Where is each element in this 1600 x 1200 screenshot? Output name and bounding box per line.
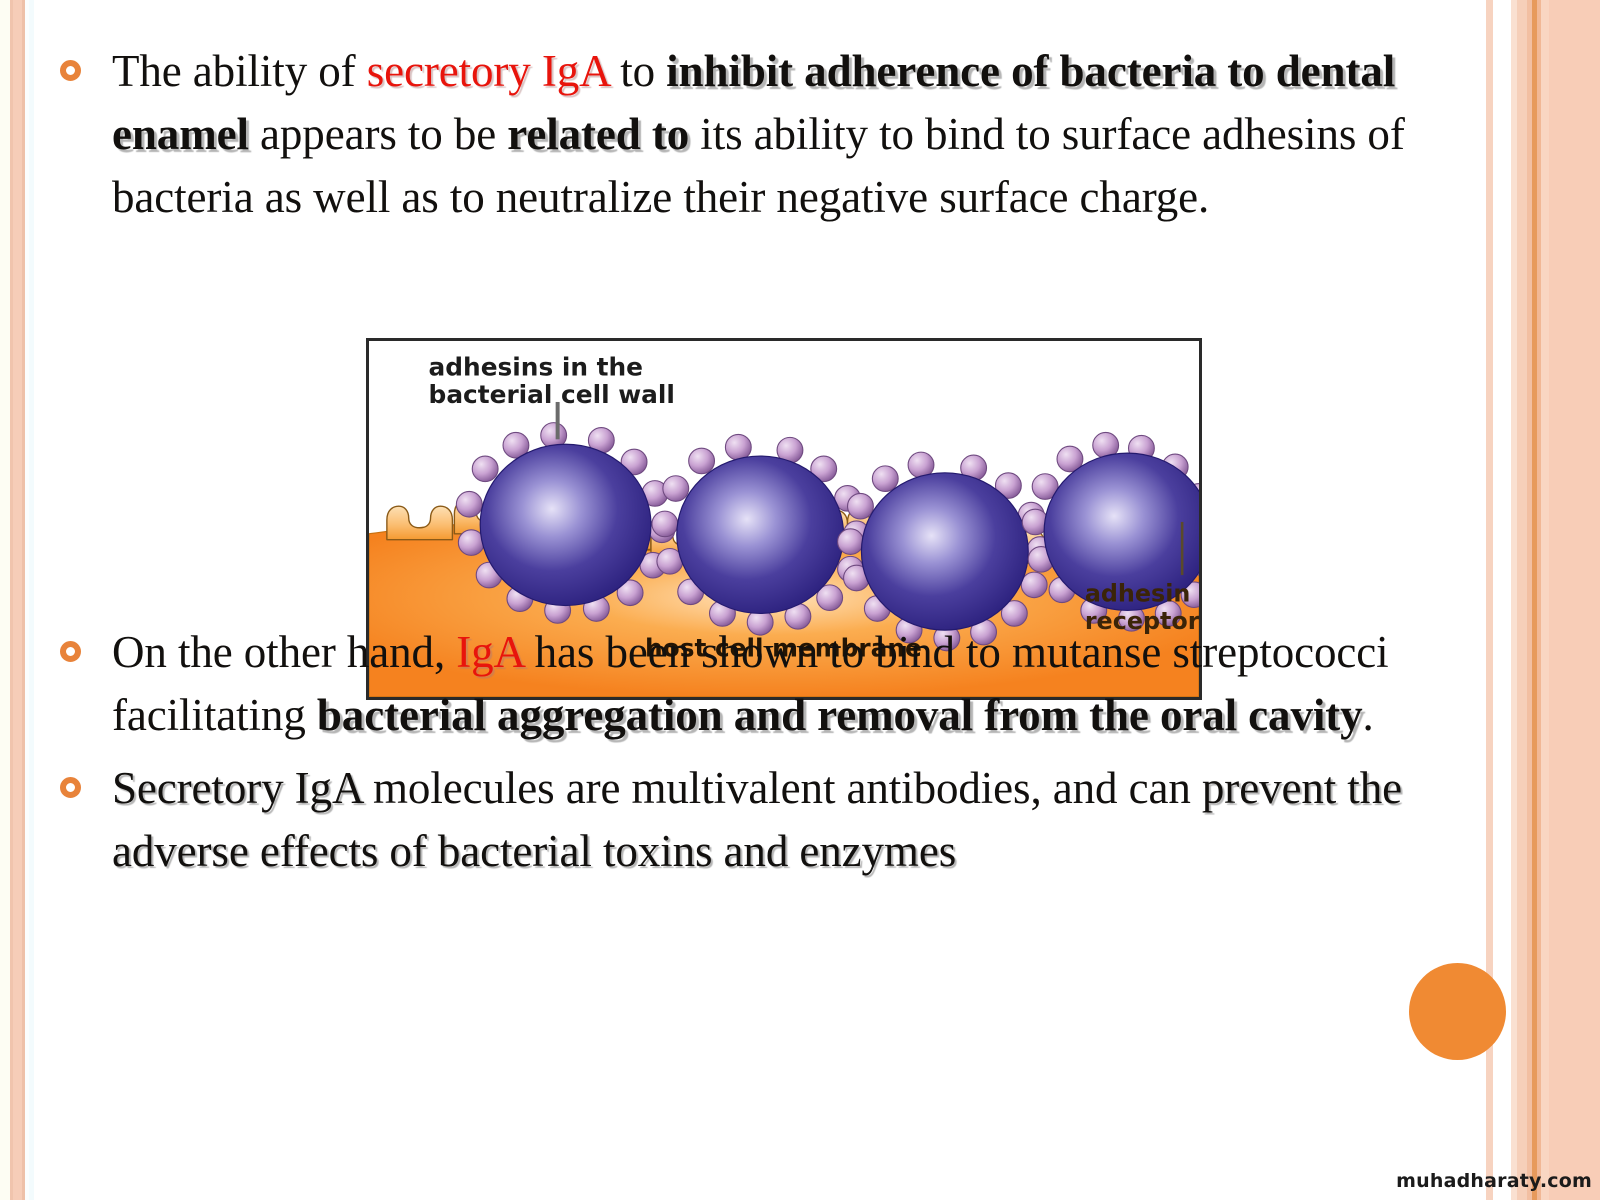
text-segment-0: On the other hand,	[112, 627, 456, 677]
ring-bullet-icon	[60, 757, 112, 803]
stripe-3	[13, 0, 22, 1200]
text-segment-0: The ability of	[112, 46, 367, 96]
ring-bullet-icon	[60, 40, 112, 86]
text-segment-5: related to	[507, 109, 689, 159]
text-segment-1: molecules are multivalent antibodies, an…	[362, 763, 1202, 813]
text-segment-4: .	[1363, 690, 1374, 740]
stripe-1	[0, 0, 10, 1200]
stripe-r5	[1517, 0, 1527, 1200]
bullet-2-text: On the other hand, IgA has been shown to…	[112, 621, 1480, 747]
left-border-stripes	[0, 0, 34, 1200]
text-segment-1: secretory IgA	[367, 46, 609, 96]
text-segment-1: IgA	[456, 627, 523, 677]
bullet-1-text: The ability of secretory IgA to inhibit …	[112, 40, 1480, 229]
stripe-r9	[1541, 0, 1549, 1200]
figure-spacer	[60, 229, 1480, 621]
ring-bullet-icon	[60, 621, 112, 667]
bullet-item-3: Secretory IgA molecules are multivalent …	[60, 757, 1480, 883]
orange-circle-decoration	[1409, 963, 1506, 1060]
text-segment-4: appears to be	[249, 109, 507, 159]
text-segment-3: bacterial aggregation and removal from t…	[317, 690, 1363, 740]
text-segment-0: Secretory IgA	[112, 763, 362, 813]
stripe-r10	[1549, 0, 1600, 1200]
slide-body: The ability of secretory IgA to inhibit …	[60, 40, 1480, 883]
slide-canvas: The ability of secretory IgA to inhibit …	[0, 0, 1600, 1200]
site-watermark: muhadharaty.com	[1396, 1170, 1592, 1192]
bullet-3-text: Secretory IgA molecules are multivalent …	[112, 757, 1480, 883]
bullet-item-2: On the other hand, IgA has been shown to…	[60, 621, 1480, 747]
text-segment-2: to	[609, 46, 666, 96]
stripe-6	[29, 0, 34, 1200]
bullet-item-1: The ability of secretory IgA to inhibit …	[60, 40, 1480, 229]
